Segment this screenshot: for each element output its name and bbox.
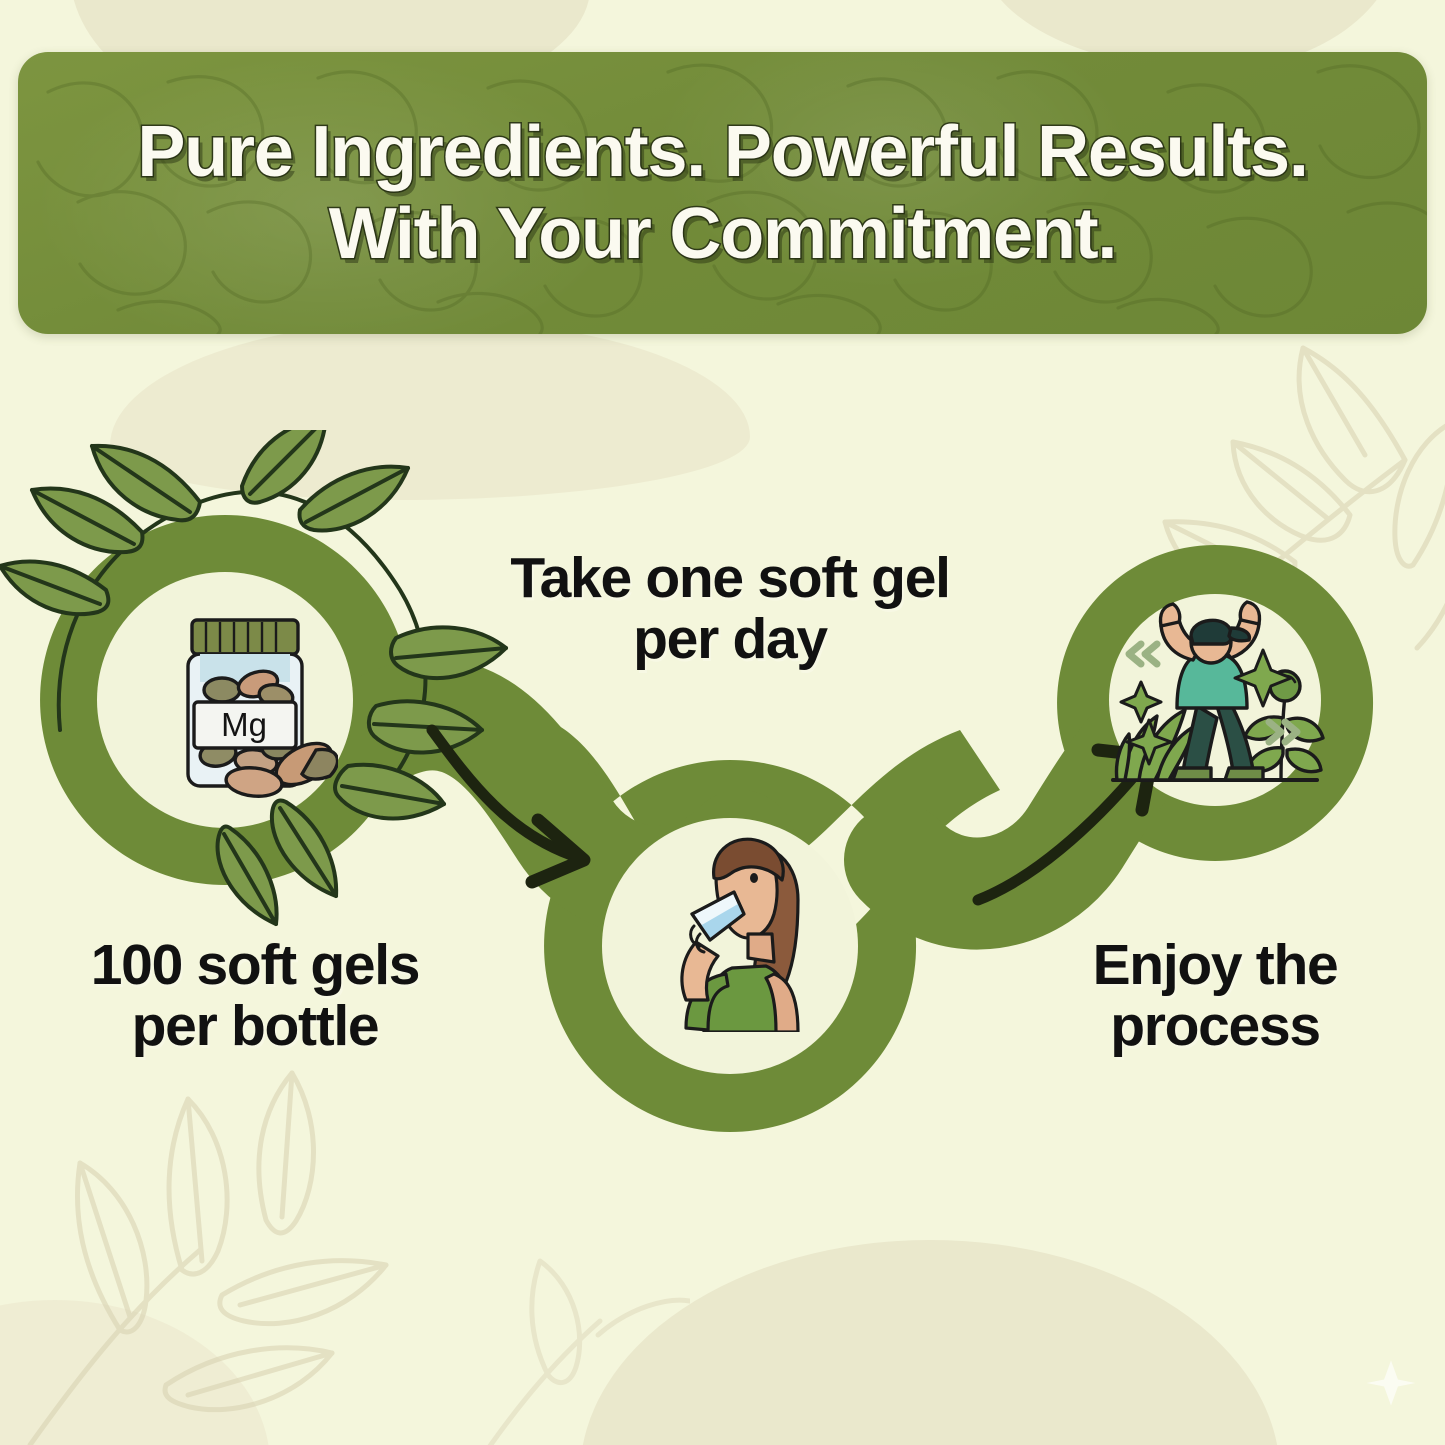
person-celebrating-icon — [1105, 598, 1325, 808]
banner-line-2: With Your Commitment. — [329, 196, 1116, 272]
caption-take-one-soft-gel: Take one soft gel per day — [390, 548, 1070, 670]
supplement-bottle-icon: Mg — [158, 612, 338, 802]
caption-line-2: per day — [390, 609, 1070, 670]
leaf-outline-icon — [430, 1225, 690, 1445]
infographic-canvas: Pure Ingredients. Powerful Results. With… — [0, 0, 1445, 1445]
header-banner: Pure Ingredients. Powerful Results. With… — [18, 52, 1427, 334]
caption-soft-gels-per-bottle: 100 soft gels per bottle — [10, 935, 500, 1057]
banner-line-1: Pure Ingredients. Powerful Results. — [137, 114, 1307, 190]
caption-line-2: process — [1000, 996, 1430, 1057]
banner-text: Pure Ingredients. Powerful Results. With… — [18, 52, 1427, 334]
caption-line-1: Take one soft gel — [390, 548, 1070, 609]
watermark-icon — [1365, 1357, 1417, 1409]
caption-line-2: per bottle — [10, 996, 500, 1057]
caption-line-1: 100 soft gels — [10, 935, 500, 996]
bottle-label: Mg — [221, 706, 267, 743]
process-flow-diagram — [0, 430, 1445, 1190]
caption-line-1: Enjoy the — [1000, 935, 1430, 996]
caption-enjoy-the-process: Enjoy the process — [1000, 935, 1430, 1057]
woman-drinking-water-icon — [648, 822, 828, 1032]
